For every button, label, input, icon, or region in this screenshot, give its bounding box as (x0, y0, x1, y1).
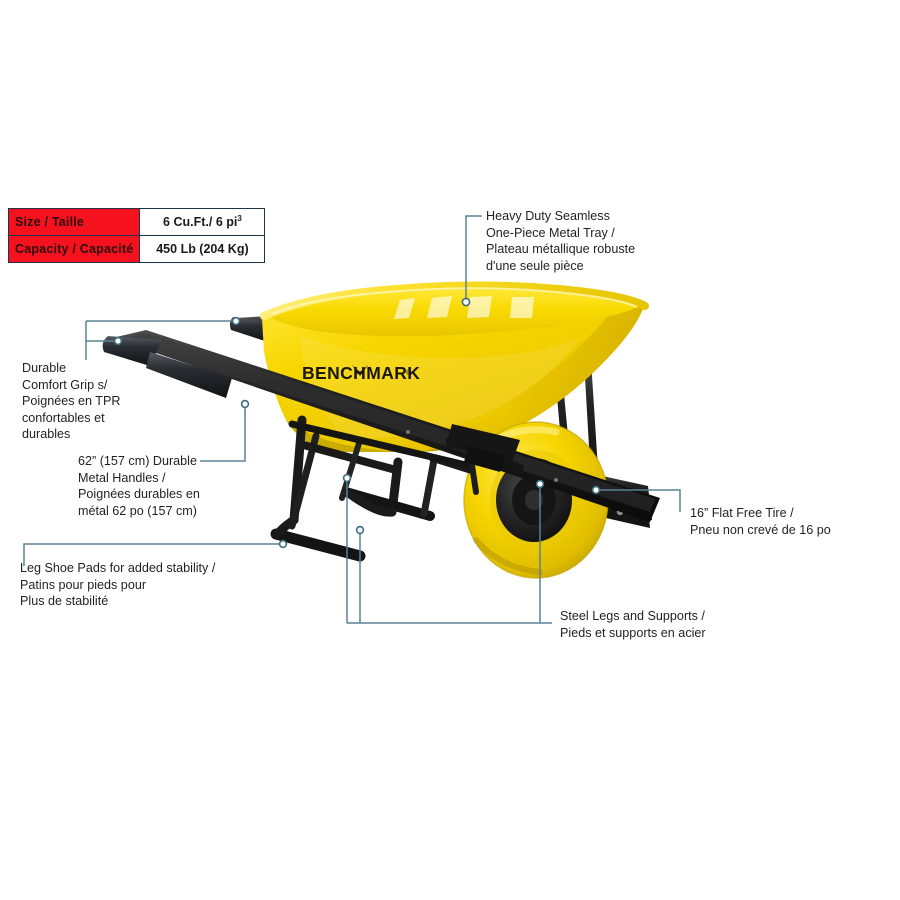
infographic-canvas: BENCHMARK ® (0, 0, 900, 900)
spec-value-size-text: 6 Cu.Ft./ 6 pi (163, 216, 237, 230)
callout-tray: Heavy Duty Seamless One-Piece Metal Tray… (486, 208, 686, 274)
brand-trademark-text: ® (406, 369, 412, 377)
spec-label-capacity: Capacity / Capacité (9, 236, 140, 263)
callout-metal-handles: 62” (157 cm) Durable Metal Handles / Poi… (78, 453, 258, 519)
spec-value-capacity: 450 Lb (204 Kg) (140, 236, 265, 263)
brand-logo: BENCHMARK ® (302, 363, 420, 383)
spec-label-size: Size / Taille (9, 209, 140, 236)
wheelbarrow-illustration: BENCHMARK ® (0, 0, 900, 900)
callout-comfort-grip: Durable Comfort Grip s/ Poignées en TPR … (22, 360, 172, 443)
table-row: Size / Taille 6 Cu.Ft./ 6 pi3 (9, 209, 265, 236)
spec-value-size: 6 Cu.Ft./ 6 pi3 (140, 209, 265, 236)
callout-flat-free-tire: 16” Flat Free Tire / Pneu non crevé de 1… (690, 505, 880, 538)
callout-leg-shoe-pads: Leg Shoe Pads for added stability / Pati… (20, 560, 260, 610)
spec-table: Size / Taille 6 Cu.Ft./ 6 pi3 Capacity /… (8, 208, 265, 263)
spec-value-size-sup: 3 (237, 214, 241, 223)
callout-steel-legs: Steel Legs and Supports / Pieds et suppo… (560, 608, 760, 641)
table-row: Capacity / Capacité 450 Lb (204 Kg) (9, 236, 265, 263)
brand-logo-text: BENCHMARK (302, 363, 420, 383)
